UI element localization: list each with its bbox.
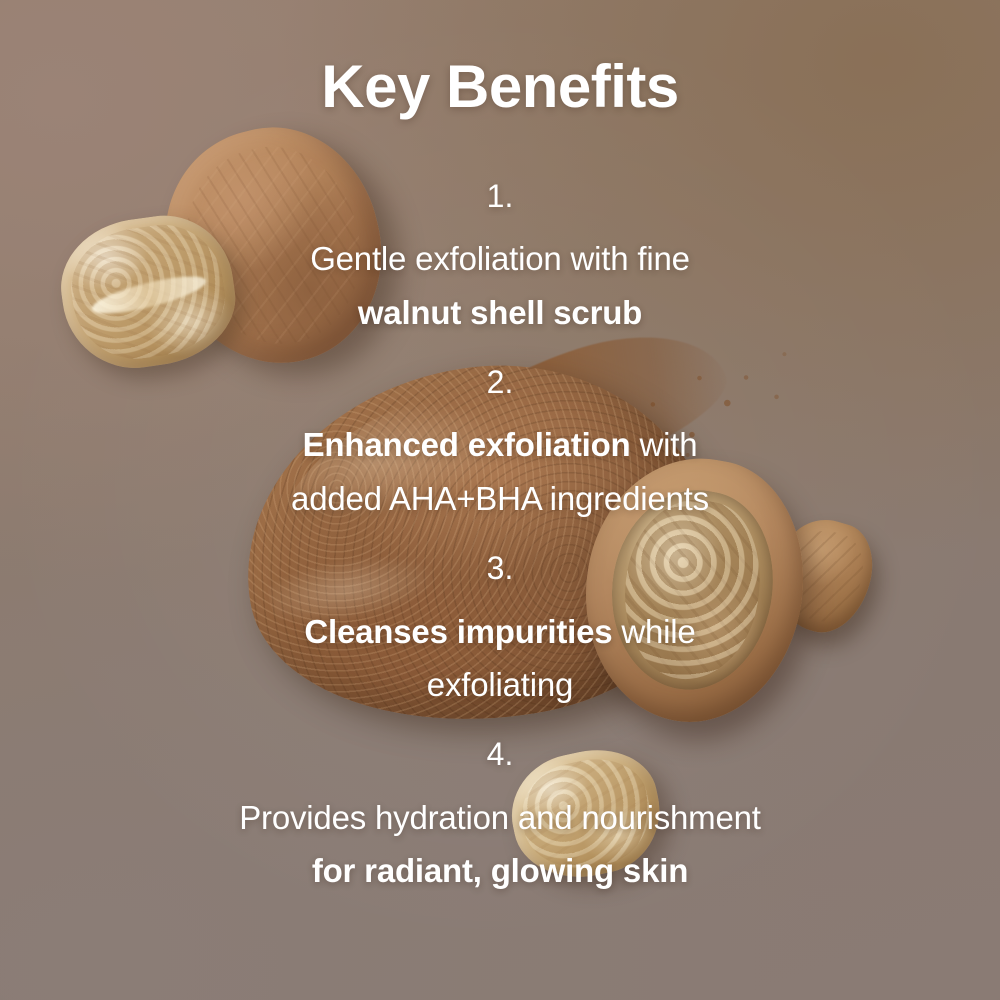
benefit-line-3a-tail: while [612, 613, 695, 650]
benefits-content: Key Benefits 1. Gentle exfoliation with … [0, 0, 1000, 1000]
benefit-line-3a: Cleanses impurities while [0, 605, 1000, 658]
benefit-number-2: 2. [0, 365, 1000, 400]
benefit-line-2a-tail: with [631, 426, 698, 463]
benefit-line-2b: added AHA+BHA ingredients [0, 472, 1000, 525]
benefit-emphasis-2: Enhanced exfoliation [303, 426, 631, 463]
page-title: Key Benefits [321, 57, 678, 117]
benefit-item-4: 4. Provides hydration and nourishment fo… [0, 737, 1000, 897]
benefit-text-3: Cleanses impurities while exfoliating [0, 605, 1000, 712]
benefit-item-2: 2. Enhanced exfoliation with added AHA+B… [0, 365, 1000, 525]
benefit-emphasis-1: walnut shell scrub [358, 294, 642, 331]
benefit-emphasis-4: for radiant, glowing skin [312, 852, 688, 889]
benefit-text-2: Enhanced exfoliation with added AHA+BHA … [0, 418, 1000, 525]
benefit-line-1b: walnut shell scrub [0, 286, 1000, 339]
benefit-line-1a: Gentle exfoliation with fine [0, 232, 1000, 285]
benefit-number-1: 1. [0, 179, 1000, 214]
benefit-item-3: 3. Cleanses impurities while exfoliating [0, 551, 1000, 711]
benefit-number-3: 3. [0, 551, 1000, 586]
benefit-text-1: Gentle exfoliation with fine walnut shel… [0, 232, 1000, 339]
benefit-text-4: Provides hydration and nourishment for r… [0, 791, 1000, 898]
benefit-line-4b: for radiant, glowing skin [0, 844, 1000, 897]
benefit-line-2a: Enhanced exfoliation with [0, 418, 1000, 471]
benefit-number-4: 4. [0, 737, 1000, 772]
benefit-line-4a: Provides hydration and nourishment [0, 791, 1000, 844]
benefit-item-1: 1. Gentle exfoliation with fine walnut s… [0, 179, 1000, 339]
benefit-emphasis-3: Cleanses impurities [304, 613, 612, 650]
key-benefits-graphic: Key Benefits 1. Gentle exfoliation with … [0, 0, 1000, 1000]
benefit-line-3b: exfoliating [0, 658, 1000, 711]
